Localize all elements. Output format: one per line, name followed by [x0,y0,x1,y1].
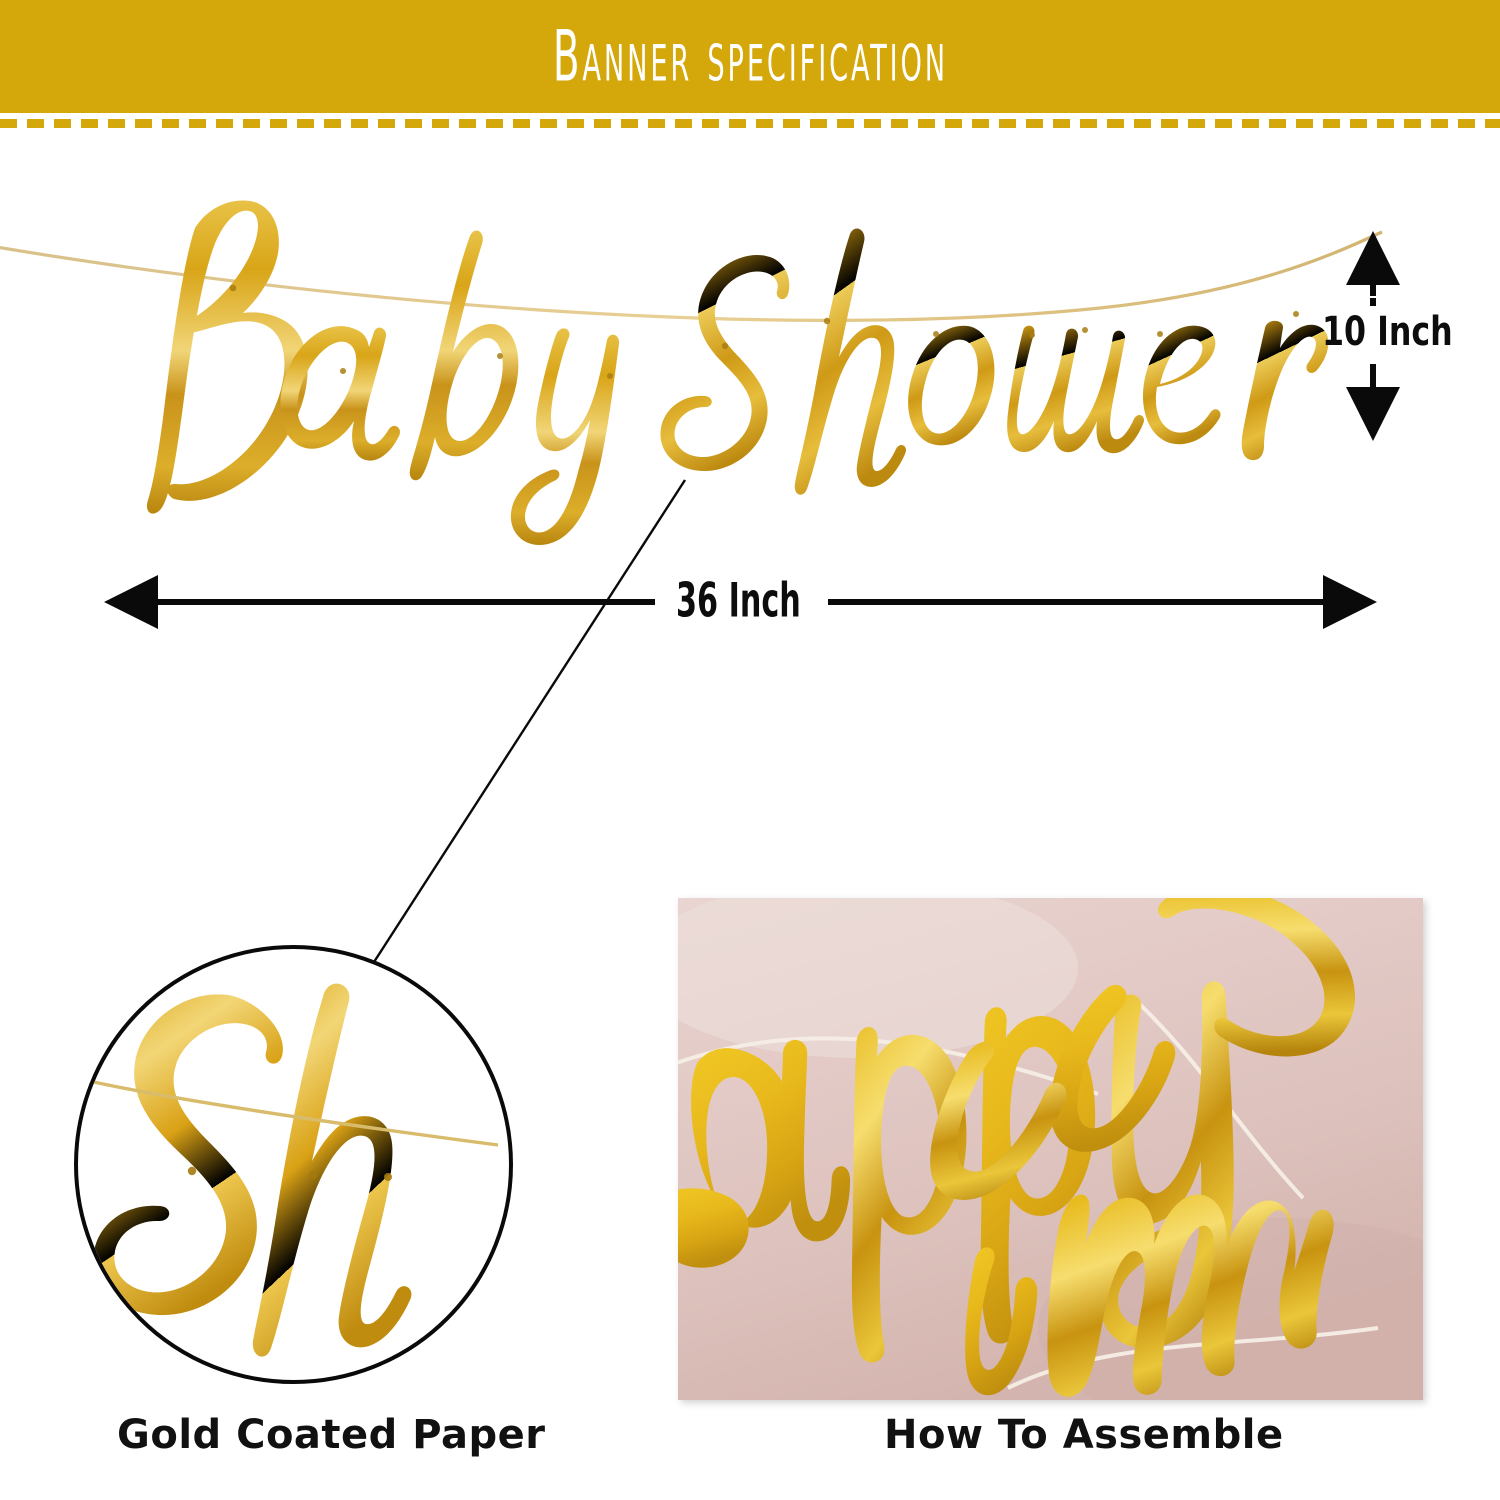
magnifier-detail-circle [74,945,513,1384]
header-dashed-divider [0,119,1500,128]
assembly-caption: How To Assemble [884,1412,1384,1458]
page-header: Banner specification [0,0,1500,113]
page-title: Banner specification [552,21,947,92]
assembly-photo [678,898,1423,1400]
magnified-letter-s [93,994,282,1315]
magnified-letters-graphic [78,949,501,1372]
banner-product-image [0,128,1500,628]
banner-word-shower [660,229,1328,495]
assembly-photo-graphic [678,898,1423,1400]
height-dimension-label: 10 Inch [1322,312,1453,352]
banner-word-baby [147,201,619,545]
banner-graphic [0,128,1500,628]
magnifier-caption: Gold Coated Paper [117,1412,517,1458]
width-dimension-label: 36 Inch [676,577,801,624]
